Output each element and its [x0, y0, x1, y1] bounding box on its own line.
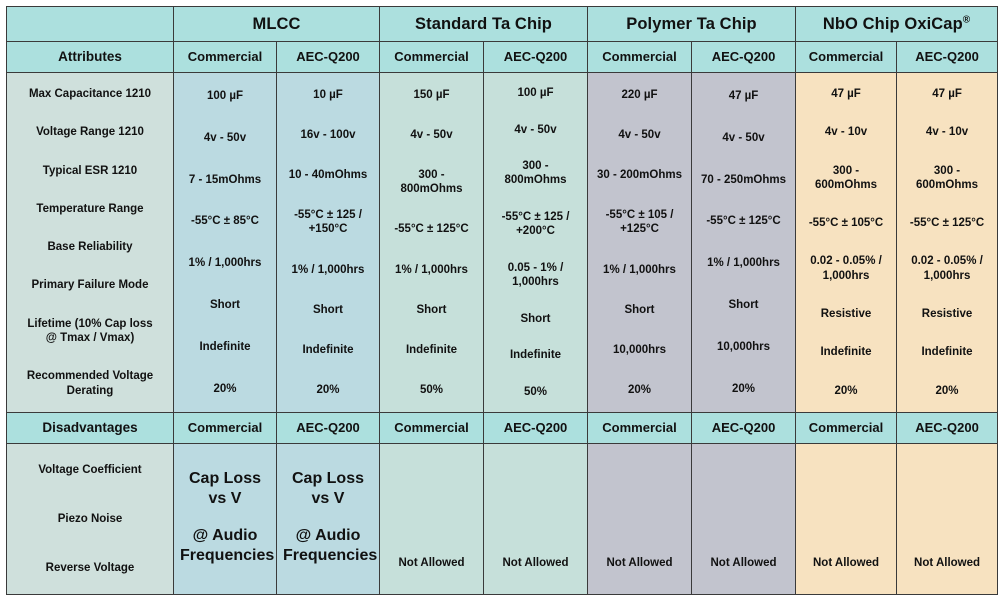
subheader-disadvantages: Disadvantages [7, 413, 174, 444]
table-cell: Cap Loss vs V [280, 460, 376, 517]
table-cell: 20% [591, 381, 688, 399]
table-cell [487, 511, 584, 513]
subheader-standard-ta-aec-q200: AEC-Q200 [484, 42, 588, 73]
attribute-label: Typical ESR 1210 [10, 162, 170, 180]
table-cell: 100 µF [177, 87, 273, 105]
table-cell [900, 467, 994, 469]
table-cell: Not Allowed [799, 555, 893, 571]
disadvantages-mlcc-commercial: Cap Loss vs V@ Audio Frequencies [174, 444, 277, 595]
table-cell: 1% / 1,000hrs [280, 261, 376, 279]
subheader-dis-polymer-ta-aec-q200: AEC-Q200 [692, 413, 796, 444]
attribute-label: Base Reliability [10, 238, 170, 256]
table-cell: 300 - 800mOhms [383, 166, 480, 199]
table-cell [900, 511, 994, 513]
attribute-label: Temperature Range [10, 200, 170, 218]
capacitor-comparison-table-root: MLCC Standard Ta Chip Polymer Ta Chip Nb… [0, 0, 1000, 565]
table-cell: 10,000hrs [591, 341, 688, 359]
table-cell [383, 467, 480, 469]
table-cell: @ Audio Frequencies [280, 517, 376, 574]
table-cell: 300 - 600mOhms [900, 162, 994, 195]
table-cell [695, 511, 792, 513]
disadvantage-label: Reverse Voltage [10, 560, 170, 576]
table-cell [280, 574, 376, 592]
table-cell [177, 574, 273, 592]
table-cell: 4v - 50v [383, 126, 480, 144]
disadvantages-mlcc-aec-q200: Cap Loss vs V@ Audio Frequencies [277, 444, 380, 595]
table-cell: 20% [695, 380, 792, 398]
table-cell: Indefinite [383, 341, 480, 359]
values-standard-ta-commercial: 150 µF4v - 50v300 - 800mOhms-55°C ± 125°… [380, 73, 484, 413]
disadvantages-standard-ta-aec-q200: Not Allowed [484, 444, 588, 595]
table-cell: 1% / 1,000hrs [383, 261, 480, 279]
table-cell: -55°C ± 85°C [177, 212, 273, 230]
disadvantages-nbo-commercial: Not Allowed [796, 444, 897, 595]
table-cell: -55°C ± 125°C [383, 220, 480, 238]
group-header-standard-ta-chip: Standard Ta Chip [380, 7, 588, 42]
table-cell: 4v - 50v [695, 129, 792, 147]
values-standard-ta-aec-q200: 100 µF4v - 50v300 - 800mOhms-55°C ± 125 … [484, 73, 588, 413]
table-cell: -55°C ± 125 / +150°C [280, 206, 376, 239]
subheader-polymer-ta-commercial: Commercial [588, 42, 692, 73]
table-cell [383, 511, 480, 513]
table-cell: -55°C ± 125 / +200°C [487, 208, 584, 241]
table-cell: 4v - 10v [900, 123, 994, 141]
subheader-polymer-ta-aec-q200: AEC-Q200 [692, 42, 796, 73]
table-cell: 0.02 - 0.05% / 1,000hrs [799, 252, 893, 285]
table-cell: Indefinite [799, 343, 893, 361]
table-cell: 4v - 50v [591, 126, 688, 144]
table-cell: Not Allowed [591, 555, 688, 571]
table-cell: 220 µF [591, 86, 688, 104]
attribute-label: Recommended Voltage Derating [10, 367, 170, 400]
subheader-mlcc-commercial: Commercial [174, 42, 277, 73]
values-nbo-commercial: 47 µF4v - 10v300 - 600mOhms-55°C ± 105°C… [796, 73, 897, 413]
table-cell: Not Allowed [695, 555, 792, 571]
subheader-dis-polymer-ta-commercial: Commercial [588, 413, 692, 444]
subheader-nbo-aec-q200: AEC-Q200 [897, 42, 998, 73]
table-cell: 0.05 - 1% / 1,000hrs [487, 259, 584, 292]
table-cell: 50% [487, 383, 584, 401]
disadvantage-label-column: Voltage CoefficientPiezo NoiseReverse Vo… [7, 444, 174, 595]
table-cell: 47 µF [900, 85, 994, 103]
subheader-nbo-commercial: Commercial [796, 42, 897, 73]
table-cell: -55°C ± 125°C [695, 212, 792, 230]
attributes-subheader-row: Attributes Commercial AEC-Q200 Commercia… [7, 42, 998, 73]
table-cell: 20% [177, 380, 273, 398]
subheader-dis-nbo-aec-q200: AEC-Q200 [897, 413, 998, 444]
table-cell [591, 467, 688, 469]
disadvantages-polymer-ta-commercial: Not Allowed [588, 444, 692, 595]
subheader-dis-standard-ta-commercial: Commercial [380, 413, 484, 444]
disadvantage-label-list: Voltage CoefficientPiezo NoiseReverse Vo… [10, 446, 170, 592]
group-header-nbo-label: NbO Chip OxiCap [823, 15, 963, 33]
table-cell: 4v - 10v [799, 123, 893, 141]
subheader-dis-nbo-commercial: Commercial [796, 413, 897, 444]
table-cell: Not Allowed [383, 555, 480, 571]
values-mlcc-aec-q200: 10 µF16v - 100v10 - 40mOhms-55°C ± 125 /… [277, 73, 380, 413]
table-cell: Short [487, 310, 584, 328]
table-cell: Short [383, 301, 480, 319]
group-header-mlcc: MLCC [174, 7, 380, 42]
table-cell: -55°C ± 105°C [799, 214, 893, 232]
table-cell: 10 µF [280, 86, 376, 104]
values-polymer-ta-aec-q200: 47 µF4v - 50v70 - 250mOhms-55°C ± 125°C1… [692, 73, 796, 413]
attribute-label-column: Max Capacitance 1210Voltage Range 1210Ty… [7, 73, 174, 413]
registered-trademark-icon: ® [963, 14, 970, 25]
table-cell: 47 µF [695, 87, 792, 105]
attribute-label-list: Max Capacitance 1210Voltage Range 1210Ty… [10, 75, 170, 410]
table-cell: 70 - 250mOhms [695, 171, 792, 189]
table-cell: Indefinite [900, 343, 994, 361]
table-cell: Indefinite [487, 346, 584, 364]
table-cell: Cap Loss vs V [177, 460, 273, 517]
subheader-attributes: Attributes [7, 42, 174, 73]
table-cell: 0.02 - 0.05% / 1,000hrs [900, 252, 994, 285]
table-cell [591, 511, 688, 513]
disadvantages-polymer-ta-aec-q200: Not Allowed [692, 444, 796, 595]
attribute-label: Primary Failure Mode [10, 276, 170, 294]
disadvantages-nbo-aec-q200: Not Allowed [897, 444, 998, 595]
table-cell [695, 467, 792, 469]
table-cell: Short [280, 301, 376, 319]
table-cell: 150 µF [383, 86, 480, 104]
values-nbo-aec-q200: 47 µF4v - 10v300 - 600mOhms-55°C ± 125°C… [897, 73, 998, 413]
table-cell: 10 - 40mOhms [280, 166, 376, 184]
table-cell: 300 - 800mOhms [487, 157, 584, 190]
table-cell: Short [177, 296, 273, 314]
disadvantages-standard-ta-commercial: Not Allowed [380, 444, 484, 595]
table-cell: Short [695, 296, 792, 314]
table-cell: 47 µF [799, 85, 893, 103]
capacitor-comparison-table: MLCC Standard Ta Chip Polymer Ta Chip Nb… [6, 6, 998, 595]
table-cell: Not Allowed [900, 555, 994, 571]
table-cell: Short [591, 301, 688, 319]
disadvantages-subheader-row: Disadvantages Commercial AEC-Q200 Commer… [7, 413, 998, 444]
subheader-dis-mlcc-aec-q200: AEC-Q200 [277, 413, 380, 444]
table-cell: Indefinite [177, 338, 273, 356]
group-header-blank [7, 7, 174, 42]
table-cell [799, 467, 893, 469]
table-cell: 20% [799, 382, 893, 400]
table-cell: 16v - 100v [280, 126, 376, 144]
values-mlcc-commercial: 100 µF4v - 50v7 - 15mOhms-55°C ± 85°C1% … [174, 73, 277, 413]
table-cell: Indefinite [280, 341, 376, 359]
table-cell: @ Audio Frequencies [177, 517, 273, 574]
table-cell [487, 467, 584, 469]
table-cell: 100 µF [487, 84, 584, 102]
attributes-body-row: Max Capacitance 1210Voltage Range 1210Ty… [7, 73, 998, 413]
subheader-standard-ta-commercial: Commercial [380, 42, 484, 73]
disadvantage-label: Voltage Coefficient [10, 462, 170, 478]
table-cell: 50% [383, 381, 480, 399]
table-cell: Not Allowed [487, 555, 584, 571]
group-header-row: MLCC Standard Ta Chip Polymer Ta Chip Nb… [7, 7, 998, 42]
group-header-nbo-chip-oxicap: NbO Chip OxiCap® [796, 7, 998, 42]
attribute-label: Lifetime (10% Cap loss @ Tmax / Vmax) [10, 315, 170, 348]
table-cell: 7 - 15mOhms [177, 171, 273, 189]
table-cell: -55°C ± 105 / +125°C [591, 206, 688, 239]
table-cell: 300 - 600mOhms [799, 162, 893, 195]
table-cell: 1% / 1,000hrs [591, 261, 688, 279]
attribute-label: Max Capacitance 1210 [10, 85, 170, 103]
table-cell: -55°C ± 125°C [900, 214, 994, 232]
table-cell: Resistive [799, 305, 893, 323]
table-cell: 1% / 1,000hrs [177, 254, 273, 272]
table-cell: 30 - 200mOhms [591, 166, 688, 184]
subheader-mlcc-aec-q200: AEC-Q200 [277, 42, 380, 73]
disadvantages-body-row: Voltage CoefficientPiezo NoiseReverse Vo… [7, 444, 998, 595]
attribute-label: Voltage Range 1210 [10, 123, 170, 141]
table-cell: 20% [280, 381, 376, 399]
group-header-polymer-ta-chip: Polymer Ta Chip [588, 7, 796, 42]
disadvantage-label: Piezo Noise [10, 511, 170, 527]
table-cell: Resistive [900, 305, 994, 323]
table-cell [799, 511, 893, 513]
table-cell: 4v - 50v [177, 129, 273, 147]
subheader-dis-standard-ta-aec-q200: AEC-Q200 [484, 413, 588, 444]
table-cell: 1% / 1,000hrs [695, 254, 792, 272]
subheader-dis-mlcc-commercial: Commercial [174, 413, 277, 444]
table-cell: 4v - 50v [487, 121, 584, 139]
table-cell: 20% [900, 382, 994, 400]
values-polymer-ta-commercial: 220 µF4v - 50v30 - 200mOhms-55°C ± 105 /… [588, 73, 692, 413]
table-cell: 10,000hrs [695, 338, 792, 356]
